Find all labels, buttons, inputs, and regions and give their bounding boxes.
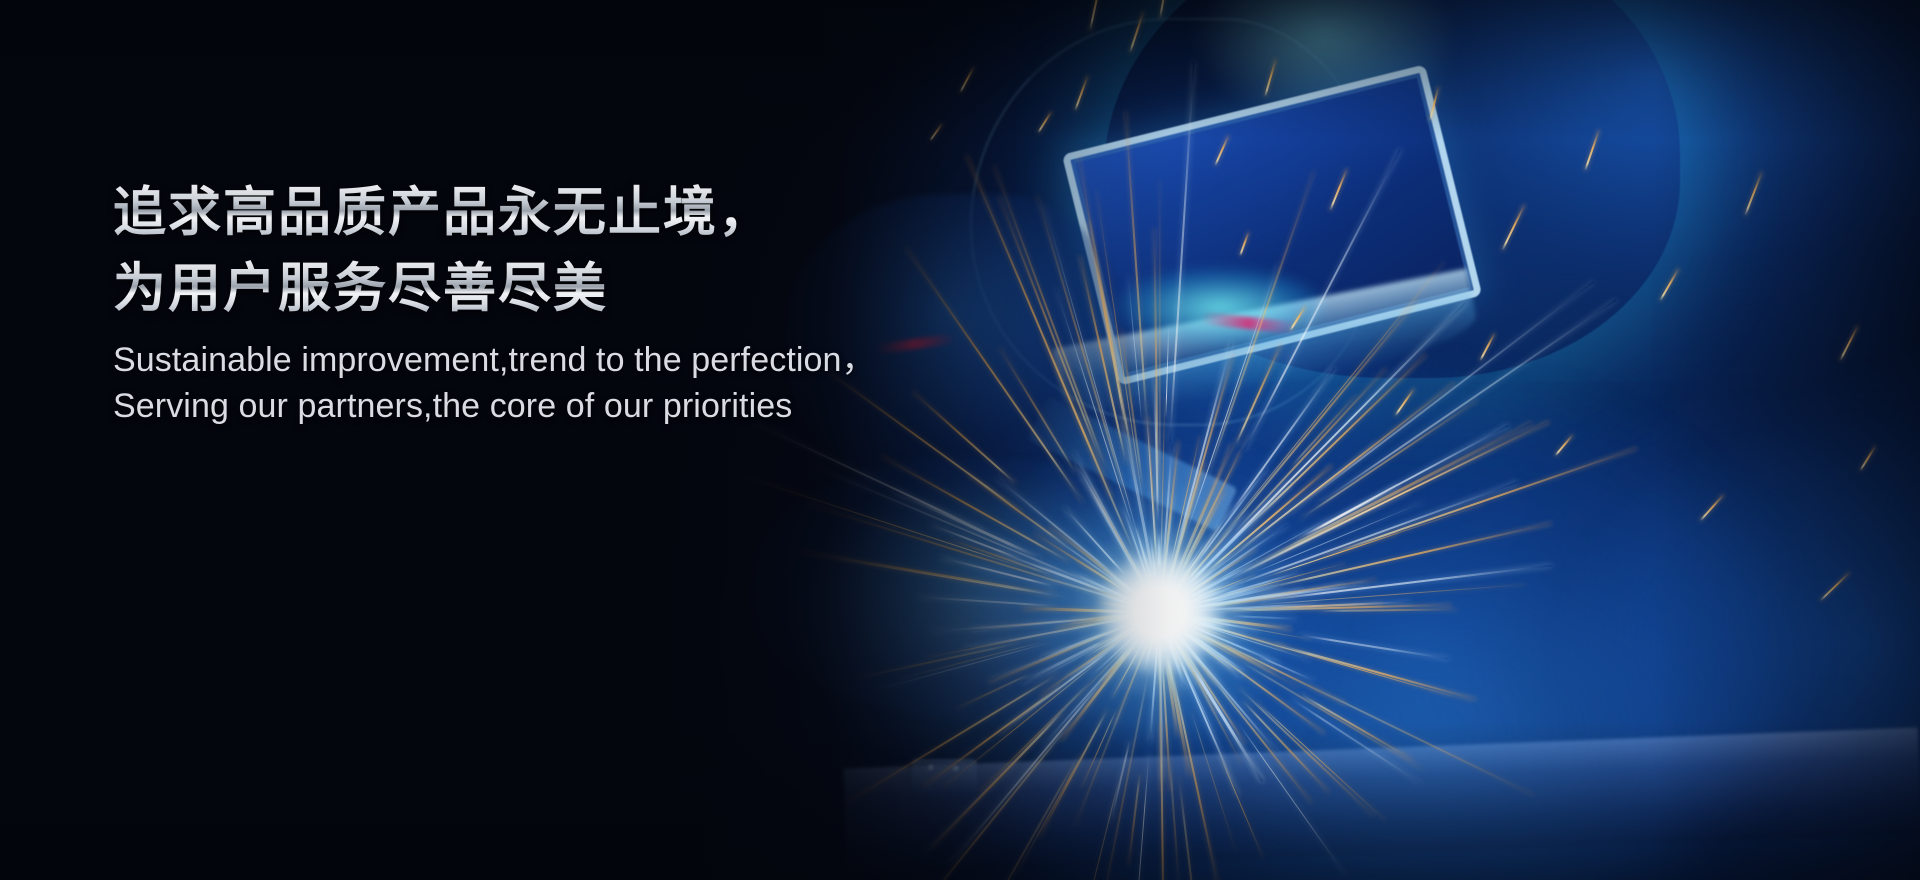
headline-chinese-line-1: 追求高品质产品永无止境， [113, 176, 876, 250]
subheadline-english-line-1: Sustainable improvement,trend to the per… [113, 338, 876, 384]
hero-copy: 追求高品质产品永无止境， 为用户服务尽善尽美 Sustainable impro… [113, 176, 876, 429]
hero-banner: 追求高品质产品永无止境， 为用户服务尽善尽美 Sustainable impro… [0, 0, 1920, 880]
headline-chinese-line-2: 为用户服务尽善尽美 [113, 252, 876, 326]
edge-vignette [0, 0, 1920, 880]
subheadline-english-line-2: Serving our partners,the core of our pri… [113, 384, 876, 430]
welding-photo-background [0, 0, 1920, 880]
